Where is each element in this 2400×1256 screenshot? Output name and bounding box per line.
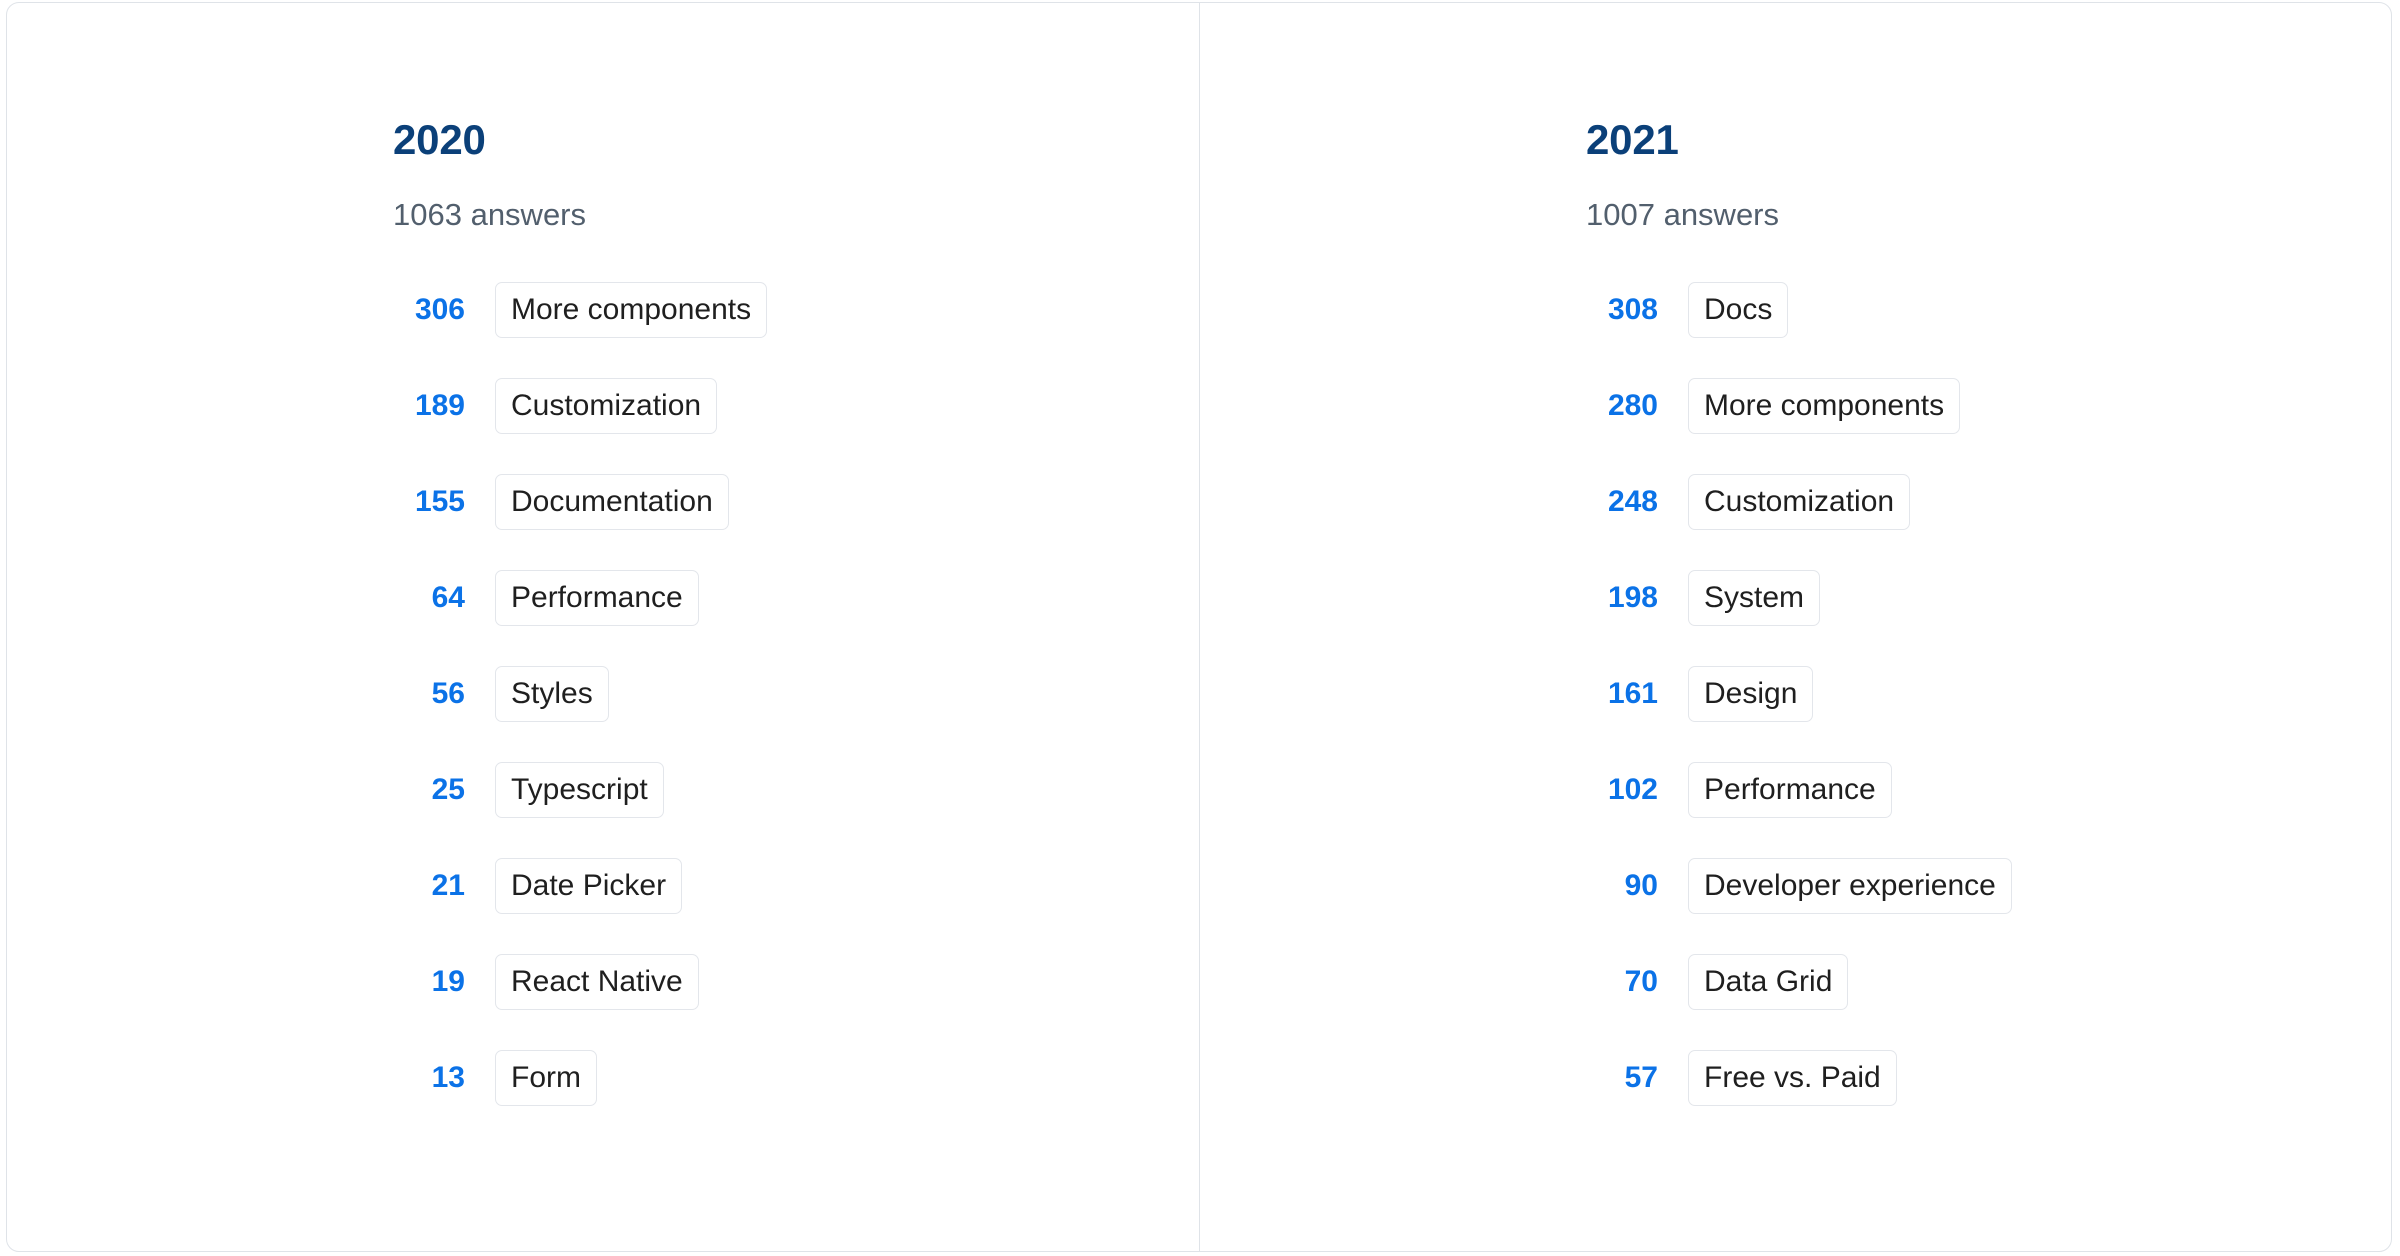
rank-row: 306 More components [393,282,1199,338]
rank-row: 56 Styles [393,666,1199,722]
rank-count: 161 [1586,679,1658,709]
rank-count: 155 [393,487,465,517]
year-panel-2021: 2021 1007 answers 308 Docs 280 More comp… [1199,3,2391,1251]
answers-count-2021: 1007 answers [1586,199,2391,230]
rank-label-chip[interactable]: Typescript [495,762,664,818]
rank-label-chip[interactable]: Design [1688,666,1813,722]
year-panel-2020: 2020 1063 answers 306 More components 18… [7,3,1199,1251]
answers-count-2020: 1063 answers [393,199,1199,230]
rank-label-chip[interactable]: Customization [495,378,717,434]
rank-label-chip[interactable]: Performance [495,570,699,626]
rank-label-chip[interactable]: Data Grid [1688,954,1848,1010]
rank-count: 308 [1586,295,1658,325]
rank-row: 21 Date Picker [393,858,1199,914]
rank-label-chip[interactable]: More components [495,282,767,338]
rank-label-chip[interactable]: Date Picker [495,858,682,914]
rank-label-chip[interactable]: Form [495,1050,597,1106]
rank-label-chip[interactable]: React Native [495,954,699,1010]
rank-count: 198 [1586,583,1658,613]
rank-list-2020: 306 More components 189 Customization 15… [393,282,1199,1106]
rank-row: 90 Developer experience [1586,858,2391,914]
rank-row: 102 Performance [1586,762,2391,818]
rank-label-chip[interactable]: Styles [495,666,609,722]
rank-count: 189 [393,391,465,421]
rank-count: 25 [393,775,465,805]
rank-label-chip[interactable]: Documentation [495,474,729,530]
rank-count: 306 [393,295,465,325]
rank-row: 25 Typescript [393,762,1199,818]
rank-count: 248 [1586,487,1658,517]
rank-label-chip[interactable]: Free vs. Paid [1688,1050,1897,1106]
year-title-2020: 2020 [393,119,1199,161]
rank-count: 21 [393,871,465,901]
year-title-2021: 2021 [1586,119,2391,161]
rank-count: 90 [1586,871,1658,901]
rank-row: 155 Documentation [393,474,1199,530]
survey-results-card: 2020 1063 answers 306 More components 18… [6,2,2392,1252]
rank-row: 64 Performance [393,570,1199,626]
rank-label-chip[interactable]: Developer experience [1688,858,2012,914]
rank-label-chip[interactable]: Customization [1688,474,1910,530]
rank-row: 308 Docs [1586,282,2391,338]
rank-row: 19 React Native [393,954,1199,1010]
rank-label-chip[interactable]: System [1688,570,1820,626]
rank-label-chip[interactable]: Docs [1688,282,1788,338]
rank-list-2021: 308 Docs 280 More components 248 Customi… [1586,282,2391,1106]
rank-row: 189 Customization [393,378,1199,434]
rank-row: 70 Data Grid [1586,954,2391,1010]
rank-count: 13 [393,1063,465,1093]
rank-count: 70 [1586,967,1658,997]
rank-count: 102 [1586,775,1658,805]
rank-row: 57 Free vs. Paid [1586,1050,2391,1106]
rank-count: 57 [1586,1063,1658,1093]
rank-row: 161 Design [1586,666,2391,722]
rank-count: 64 [393,583,465,613]
rank-row: 248 Customization [1586,474,2391,530]
rank-count: 280 [1586,391,1658,421]
rank-row: 280 More components [1586,378,2391,434]
rank-row: 198 System [1586,570,2391,626]
rank-row: 13 Form [393,1050,1199,1106]
rank-count: 19 [393,967,465,997]
rank-label-chip[interactable]: Performance [1688,762,1892,818]
rank-count: 56 [393,679,465,709]
rank-label-chip[interactable]: More components [1688,378,1960,434]
